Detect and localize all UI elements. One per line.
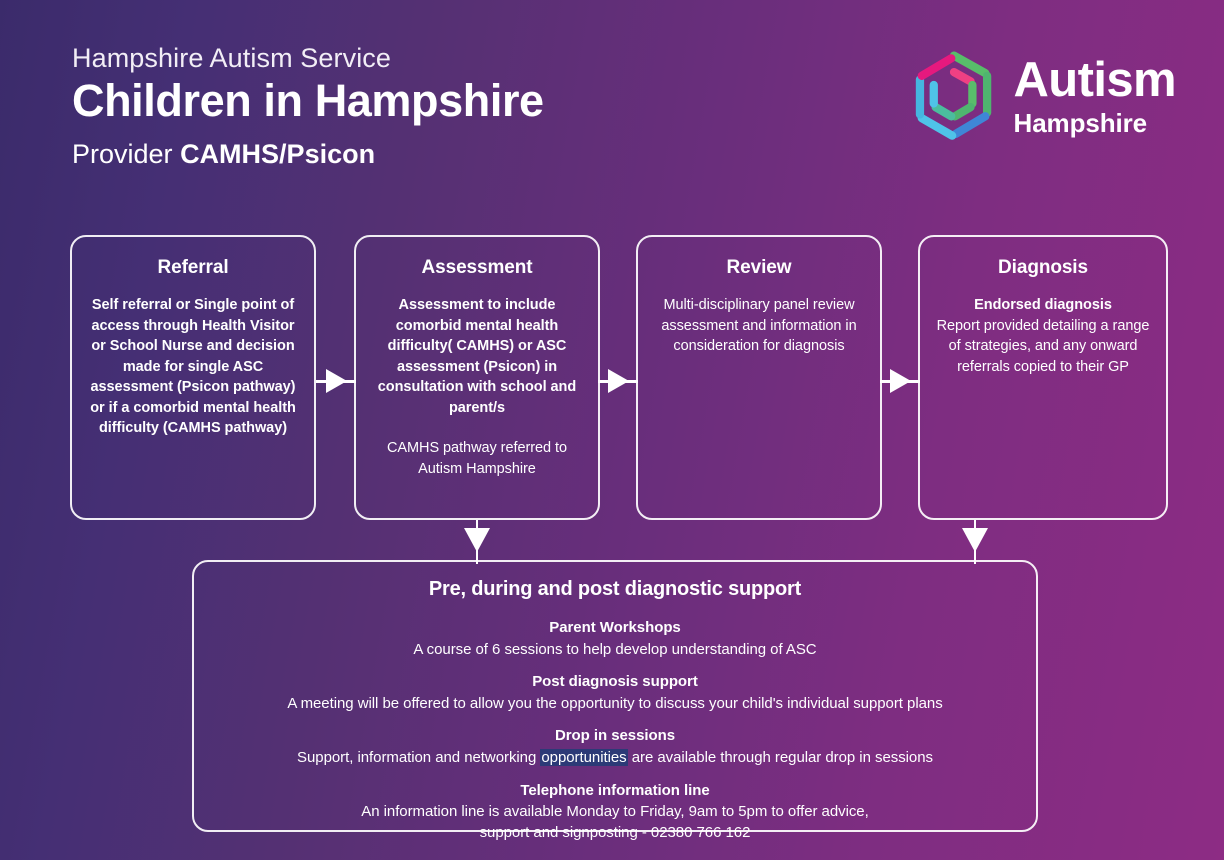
page-title: Children in Hampshire [72,76,772,126]
support-item-parent-workshops: Parent Workshops A course of 6 sessions … [194,617,1036,660]
support-item-heading: Drop in sessions [194,725,1036,748]
arrow-right-icon [880,369,920,393]
support-item-desc: Support, information and networking oppo… [194,748,1036,769]
poster-canvas: Hampshire Autism Service Children in Ham… [0,0,1224,860]
selected-text-opportunities[interactable]: opportunities [540,749,627,766]
page-header: Hampshire Autism Service Children in Ham… [72,44,772,170]
arrow-right-icon [316,369,356,393]
desc-text-before: Support, information and networking [297,749,540,766]
arrow-head [962,528,988,552]
logo-word-hampshire: Hampshire [1014,110,1176,136]
flow-box-review: Review Multi-disciplinary panel review a… [636,235,882,520]
flow-box-title: Referral [88,257,298,279]
arrow-head [608,369,629,393]
desc-text-after: are available through regular drop in se… [628,749,933,766]
logo-wordmark: Autism Hampshire [1014,56,1176,138]
arrow-head [326,369,347,393]
flow-box-title: Diagnosis [936,257,1150,279]
flow-box-title: Assessment [372,257,582,279]
hexagon-spiral-icon [908,50,1000,144]
flow-box-secondary: CAMHS pathway referred to Autism Hampshi… [372,438,582,479]
flow-box-body: Multi-disciplinary panel review assessme… [654,295,864,357]
arrow-head [464,528,490,552]
support-item-post-diagnosis: Post diagnosis support A meeting will be… [194,671,1036,714]
arrow-down-icon [962,520,988,564]
support-item-heading: Post diagnosis support [194,671,1036,694]
support-panel: Pre, during and post diagnostic support … [192,560,1038,832]
flow-box-body-bold: Endorsed diagnosis [936,295,1150,316]
provider-label: Provider [72,139,173,169]
support-item-desc-line1: An information line is available Monday … [194,802,1036,823]
flow-box-title: Review [654,257,864,279]
support-item-drop-in-sessions: Drop in sessions Support, information an… [194,725,1036,768]
arrow-down-icon [464,520,490,564]
support-item-heading: Parent Workshops [194,617,1036,640]
flow-box-assessment: Assessment Assessment to include comorbi… [354,235,600,520]
header-eyebrow: Hampshire Autism Service [72,44,772,74]
support-item-desc-line2: support and signposting - 02380 766 162 [194,823,1036,844]
support-panel-title: Pre, during and post diagnostic support [194,578,1036,601]
flow-box-body: Assessment to include comorbid mental he… [372,295,582,418]
support-item-heading: Telephone information line [194,780,1036,803]
support-item-desc: A meeting will be offered to allow you t… [194,694,1036,715]
logo-word-autism: Autism [1014,56,1176,105]
support-item-telephone-line: Telephone information line An informatio… [194,780,1036,844]
autism-hampshire-logo: Autism Hampshire [908,50,1176,144]
support-item-desc: A course of 6 sessions to help develop u… [194,640,1036,661]
arrow-right-icon [598,369,638,393]
arrow-head [890,369,911,393]
flow-box-referral: Referral Self referral or Single point o… [70,235,316,520]
flow-box-body: Self referral or Single point of access … [88,295,298,439]
flow-box-body: Report provided detailing a range of str… [936,316,1150,378]
provider-line: Provider CAMHS/Psicon [72,140,772,170]
provider-value: CAMHS/Psicon [180,139,375,169]
flow-box-diagnosis: Diagnosis Endorsed diagnosis Report prov… [918,235,1168,520]
